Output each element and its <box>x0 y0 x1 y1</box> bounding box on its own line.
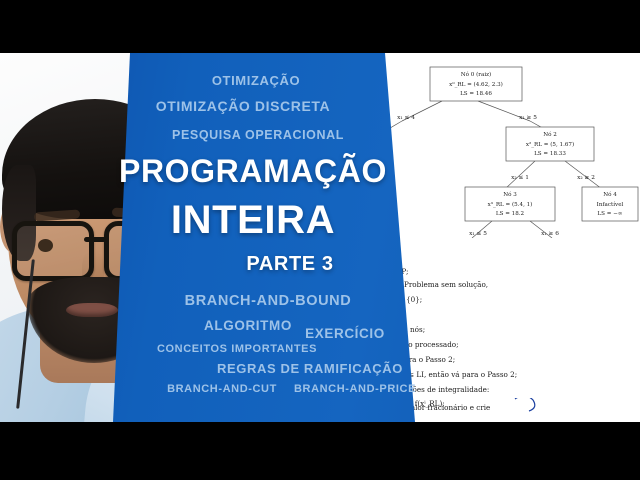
keyword-algoritmo: ALGORITMO <box>204 318 292 333</box>
keyword-branch-and-price: BRANCH-AND-PRICE <box>294 383 416 395</box>
keyword-exercicio: EXERCÍCIO <box>305 326 385 341</box>
title-banner-text: OTIMIZAÇÃO OTIMIZAÇÃO DISCRETA PESQUISA … <box>0 53 640 422</box>
keyword-conceitos-importantes: CONCEITOS IMPORTANTES <box>157 343 317 355</box>
video-frame: Nó 0 (raiz) x⁰_RL = (4.62, 2.3) LS = 18.… <box>0 0 640 480</box>
part-label: PARTE 3 <box>246 253 333 276</box>
title-line-1: PROGRAMAÇÃO <box>119 153 387 190</box>
keyword-otimizacao: OTIMIZAÇÃO <box>212 73 300 88</box>
keyword-branch-and-bound: BRANCH-AND-BOUND <box>185 293 352 309</box>
letterbox-bottom <box>0 422 640 480</box>
keyword-otimizacao-discreta: OTIMIZAÇÃO DISCRETA <box>156 98 330 114</box>
keyword-pesquisa-operacional: PESQUISA OPERACIONAL <box>172 128 344 142</box>
video-content: Nó 0 (raiz) x⁰_RL = (4.62, 2.3) LS = 18.… <box>0 53 640 422</box>
title-line-2: INTEIRA <box>171 198 335 243</box>
keyword-regras-ramificacao: REGRAS DE RAMIFICAÇÃO <box>217 361 403 376</box>
keyword-branch-and-cut: BRANCH-AND-CUT <box>167 383 277 395</box>
letterbox-top <box>0 0 640 53</box>
